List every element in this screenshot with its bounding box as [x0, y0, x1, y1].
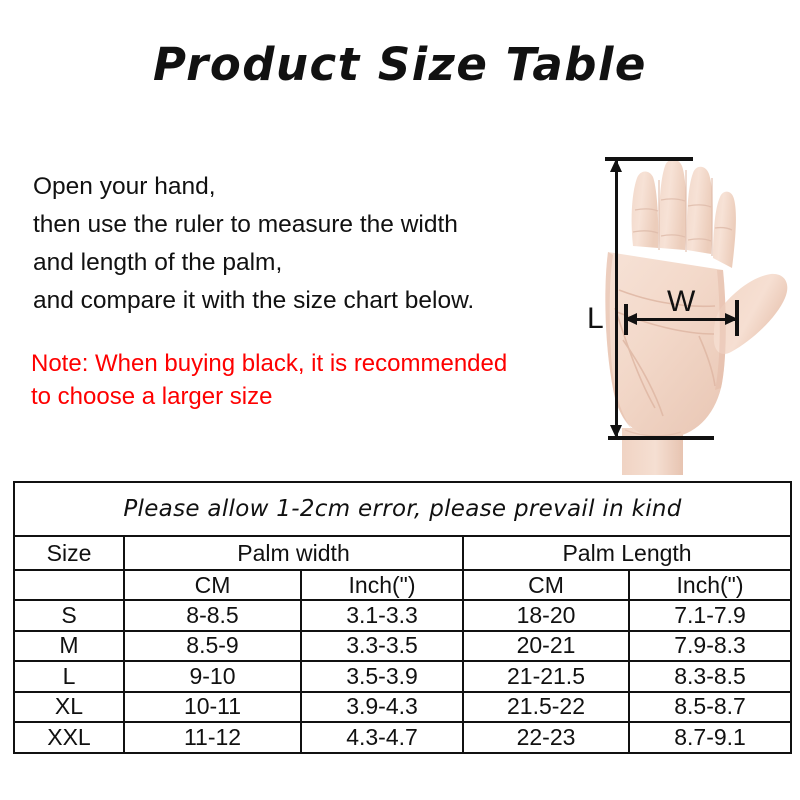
- cell-length-inch: 8.5-8.7: [629, 692, 791, 723]
- instructions-text: Open your hand, then use the ruler to me…: [33, 168, 573, 320]
- instruction-line: and compare it with the size chart below…: [33, 282, 573, 320]
- cell-size: XXL: [14, 722, 124, 753]
- instruction-line: then use the ruler to measure the width: [33, 206, 573, 244]
- cell-width-cm: 8-8.5: [124, 600, 301, 631]
- header-size-empty: [14, 570, 124, 600]
- cell-width-inch: 3.9-4.3: [301, 692, 463, 723]
- header-palm-length: Palm Length: [463, 536, 791, 570]
- cell-width-cm: 10-11: [124, 692, 301, 723]
- header-width-cm: CM: [124, 570, 301, 600]
- width-arrow-left-icon: [624, 313, 637, 325]
- cell-width-cm: 9-10: [124, 661, 301, 692]
- instruction-line: and length of the palm,: [33, 244, 573, 282]
- hand-measurement-diagram: L W: [575, 140, 800, 475]
- header-size: Size: [14, 536, 124, 570]
- note-line: Note: When buying black, it is recommend…: [31, 347, 611, 380]
- width-arrow-right-icon: [725, 313, 738, 325]
- cell-length-inch: 8.3-8.5: [629, 661, 791, 692]
- cell-length-cm: 21.5-22: [463, 692, 629, 723]
- cell-length-inch: 7.9-8.3: [629, 631, 791, 662]
- table-row: M 8.5-9 3.3-3.5 20-21 7.9-8.3: [14, 631, 791, 662]
- table-group-header-row: Size Palm width Palm Length: [14, 536, 791, 570]
- table-unit-header-row: CM Inch(") CM Inch("): [14, 570, 791, 600]
- length-arrow-up-icon: [610, 159, 622, 172]
- note-text: Note: When buying black, it is recommend…: [31, 347, 611, 413]
- table-caption-row: Please allow 1-2cm error, please prevail…: [14, 482, 791, 536]
- cell-length-inch: 8.7-9.1: [629, 722, 791, 753]
- cell-width-inch: 3.1-3.3: [301, 600, 463, 631]
- size-table: Please allow 1-2cm error, please prevail…: [13, 481, 792, 754]
- cell-length-inch: 7.1-7.9: [629, 600, 791, 631]
- width-label: W: [667, 287, 695, 317]
- cell-length-cm: 20-21: [463, 631, 629, 662]
- cell-size: S: [14, 600, 124, 631]
- header-length-inch: Inch("): [629, 570, 791, 600]
- page-title: Product Size Table: [0, 38, 800, 91]
- cell-size: M: [14, 631, 124, 662]
- note-line: to choose a larger size: [31, 380, 611, 413]
- table-row: XXL 11-12 4.3-4.7 22-23 8.7-9.1: [14, 722, 791, 753]
- cell-width-inch: 3.3-3.5: [301, 631, 463, 662]
- header-width-inch: Inch("): [301, 570, 463, 600]
- cell-width-inch: 4.3-4.7: [301, 722, 463, 753]
- cell-size: XL: [14, 692, 124, 723]
- cell-length-cm: 22-23: [463, 722, 629, 753]
- header-length-cm: CM: [463, 570, 629, 600]
- table-row: XL 10-11 3.9-4.3 21.5-22 8.5-8.7: [14, 692, 791, 723]
- cell-size: L: [14, 661, 124, 692]
- table-caption: Please allow 1-2cm error, please prevail…: [14, 482, 791, 536]
- cell-length-cm: 21-21.5: [463, 661, 629, 692]
- header-palm-width: Palm width: [124, 536, 463, 570]
- length-arrow-down-icon: [610, 425, 622, 438]
- length-label: L: [587, 304, 604, 334]
- instruction-line: Open your hand,: [33, 168, 573, 206]
- width-axis-line: [627, 318, 737, 321]
- cell-length-cm: 18-20: [463, 600, 629, 631]
- cell-width-inch: 3.5-3.9: [301, 661, 463, 692]
- table-row: L 9-10 3.5-3.9 21-21.5 8.3-8.5: [14, 661, 791, 692]
- length-axis-line: [615, 159, 618, 438]
- cell-width-cm: 11-12: [124, 722, 301, 753]
- table-row: S 8-8.5 3.1-3.3 18-20 7.1-7.9: [14, 600, 791, 631]
- cell-width-cm: 8.5-9: [124, 631, 301, 662]
- wrist-tick-line: [608, 436, 714, 440]
